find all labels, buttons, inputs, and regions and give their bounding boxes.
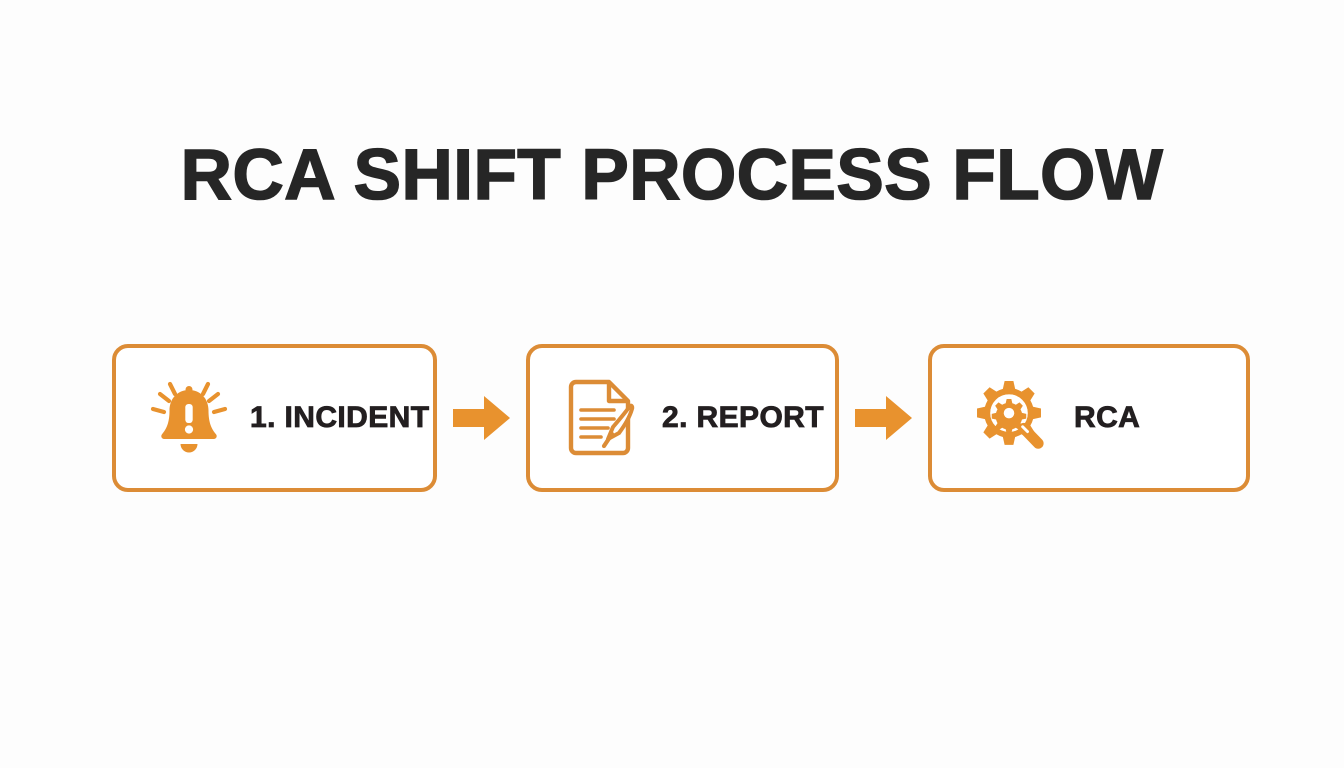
arrow-right-icon [451, 392, 513, 444]
process-flow-diagram: 1. INCIDENT [112, 344, 1250, 492]
arrow-right-icon [853, 392, 915, 444]
page-title: RCA SHIFT PROCESS FLOW [0, 140, 1344, 211]
flow-step-label-rca: RCA [1074, 401, 1140, 435]
alarm-bell-icon [150, 376, 228, 460]
slide-canvas: RCA SHIFT PROCESS FLOW [0, 0, 1344, 768]
document-quill-icon [566, 376, 644, 460]
flow-step-report[interactable]: 2. REPORT [526, 344, 839, 492]
flow-step-label-report: 2. REPORT [662, 401, 824, 435]
flow-step-rca[interactable]: RCA [928, 344, 1250, 492]
flow-step-label-incident: 1. INCIDENT [250, 401, 429, 435]
flow-step-incident[interactable]: 1. INCIDENT [112, 344, 437, 492]
gear-magnifier-icon [970, 376, 1048, 460]
